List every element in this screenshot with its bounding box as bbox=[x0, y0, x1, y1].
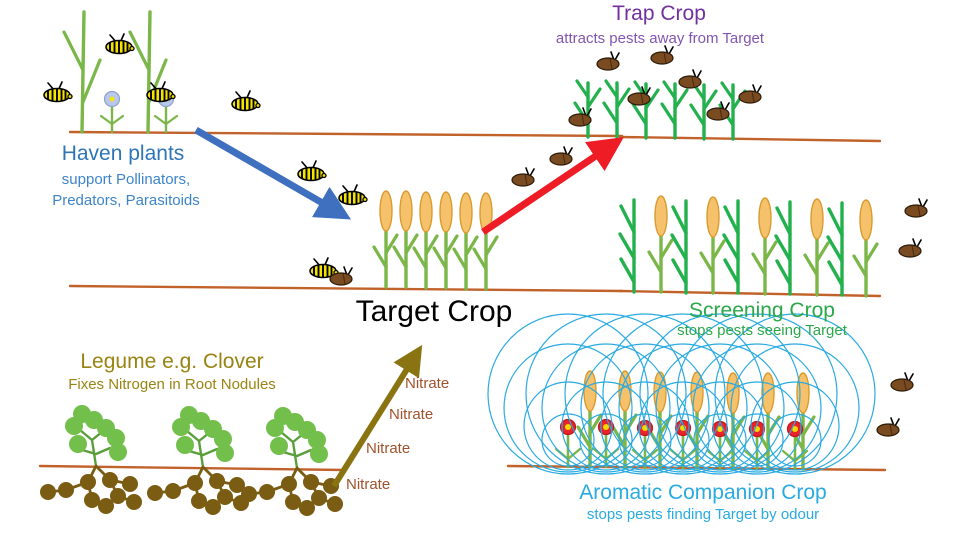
screening-wheat bbox=[805, 199, 828, 295]
screening-wheat bbox=[701, 197, 724, 293]
nitrate-label: Nitrate bbox=[346, 476, 390, 493]
haven-grass-stem bbox=[130, 12, 166, 132]
legume-subtitle: Fixes Nitrogen in Root Nodules bbox=[68, 376, 276, 393]
target-crop-group bbox=[374, 191, 497, 289]
pest-icon bbox=[707, 102, 729, 120]
target-crop-plant bbox=[414, 192, 437, 288]
target-crop-plant bbox=[394, 191, 417, 287]
pest-icon bbox=[877, 418, 899, 436]
clover-leaves bbox=[65, 405, 127, 466]
screening-grass bbox=[620, 200, 634, 292]
pest-icon bbox=[550, 147, 572, 165]
aromatic-crop-subtitle: stops pests finding Target by odour bbox=[587, 506, 819, 523]
haven-grass-stem bbox=[64, 12, 100, 132]
pest-icon bbox=[899, 239, 921, 257]
clover-leaves bbox=[266, 407, 328, 468]
haven-flower-plant bbox=[101, 92, 123, 133]
bee-icon bbox=[147, 82, 175, 102]
trap-crop-subtitle: attracts pests away from Target bbox=[556, 30, 764, 47]
aromatic-crop-title: Aromatic Companion Crop bbox=[579, 481, 826, 505]
trap-ground-line bbox=[620, 137, 880, 141]
aromatic-flower-plant bbox=[708, 422, 732, 470]
haven-title: Haven plants bbox=[62, 142, 185, 166]
trap-crop-plant bbox=[633, 82, 658, 138]
target-crop-title: Target Crop bbox=[356, 295, 513, 329]
pest-icon bbox=[651, 46, 673, 64]
target-ground-line bbox=[70, 286, 622, 291]
haven-ground-line bbox=[70, 132, 622, 136]
haven-subtitle-line2: Predators, Parasitoids bbox=[52, 192, 200, 209]
bee-icon bbox=[232, 91, 260, 111]
screening-wheat bbox=[649, 196, 672, 292]
clover-root-nodules bbox=[241, 468, 343, 516]
companion-planting-diagram: Haven plants support Pollinators, Predat… bbox=[0, 0, 960, 540]
aromatic-flower-plant bbox=[633, 421, 657, 469]
pest-icon bbox=[739, 85, 761, 103]
screening-wheat bbox=[753, 198, 776, 294]
bee-icon bbox=[44, 82, 72, 102]
trap-crop-plant bbox=[662, 82, 687, 138]
screening-grass bbox=[724, 201, 738, 293]
nitrate-label: Nitrate bbox=[366, 440, 410, 457]
screening-grass bbox=[672, 201, 686, 293]
screening-crop-group bbox=[620, 196, 877, 296]
legume-clover-group bbox=[40, 405, 343, 516]
diagram-canvas bbox=[0, 0, 960, 540]
pest-icon bbox=[597, 52, 619, 70]
nitrate-label: Nitrate bbox=[389, 406, 433, 423]
pest-icon bbox=[679, 70, 701, 88]
target-crop-plant bbox=[474, 193, 497, 289]
screening-grass bbox=[776, 202, 790, 294]
screening-grass bbox=[828, 203, 842, 295]
nitrate-label: Nitrate bbox=[405, 375, 449, 392]
bee-icon bbox=[106, 34, 134, 54]
pest-icon bbox=[891, 373, 913, 391]
bee-icon bbox=[339, 185, 367, 205]
screening-crop-subtitle: stops pests seeing Target bbox=[677, 322, 847, 339]
pest-icon bbox=[512, 168, 534, 186]
screening-wheat bbox=[854, 200, 877, 296]
pest-icon bbox=[905, 199, 927, 217]
clover-root-nodules bbox=[147, 467, 249, 515]
target-crop-plant bbox=[374, 191, 397, 287]
trap-crop-title: Trap Crop bbox=[612, 2, 706, 26]
target-crop-plant bbox=[454, 193, 477, 289]
screening-crop-title: Screening Crop bbox=[689, 299, 835, 323]
trap-crop-plant bbox=[575, 81, 600, 137]
haven-plant-group bbox=[64, 12, 177, 132]
clover-root-nodules bbox=[40, 466, 142, 514]
legume-title: Legume e.g. Clover bbox=[80, 350, 263, 374]
aromatic-wheat bbox=[613, 371, 636, 467]
clover-leaves bbox=[172, 406, 234, 467]
trap-crop-plant bbox=[604, 81, 629, 137]
target-crop-plant bbox=[434, 192, 457, 288]
haven-subtitle-line1: support Pollinators, bbox=[62, 171, 190, 188]
target-to-trap-arrow bbox=[483, 141, 618, 232]
bee-icon bbox=[298, 161, 326, 181]
